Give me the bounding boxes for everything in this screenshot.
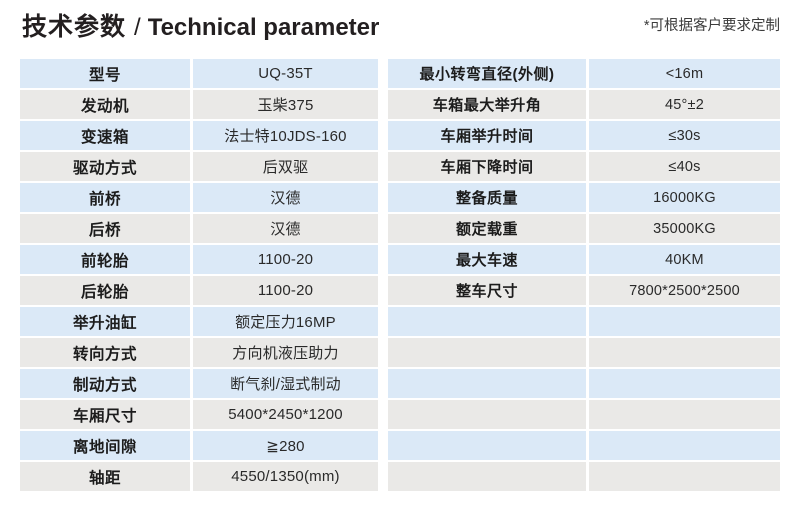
spec-value <box>589 431 780 460</box>
spec-label <box>388 400 586 429</box>
table-row <box>388 369 780 400</box>
spec-table-left: 型号UQ-35T发动机玉柴375变速箱法士特10JDS-160驱动方式后双驱前桥… <box>20 59 378 493</box>
spec-label: 最小转弯直径(外侧) <box>388 59 586 88</box>
spec-label <box>388 462 586 491</box>
table-row: 转向方式方向机液压助力 <box>20 338 378 369</box>
spec-label: 车厢举升时间 <box>388 121 586 150</box>
spec-label: 车箱最大举升角 <box>388 90 586 119</box>
spec-value: 7800*2500*2500 <box>589 276 780 305</box>
spec-label <box>388 338 586 367</box>
spec-label: 变速箱 <box>20 121 190 150</box>
spec-label: 最大车速 <box>388 245 586 274</box>
spec-label: 驱动方式 <box>20 152 190 181</box>
spec-value: 40KM <box>589 245 780 274</box>
table-row: 变速箱法士特10JDS-160 <box>20 121 378 152</box>
table-row <box>388 400 780 431</box>
table-row: 前轮胎1100-20 <box>20 245 378 276</box>
spec-label: 车厢下降时间 <box>388 152 586 181</box>
spec-value: 16000KG <box>589 183 780 212</box>
spec-value: ≤30s <box>589 121 780 150</box>
spec-label: 转向方式 <box>20 338 190 367</box>
page-title-separator: / <box>134 16 141 40</box>
spec-label: 后轮胎 <box>20 276 190 305</box>
table-row: 最大车速40KM <box>388 245 780 276</box>
table-row: 车厢举升时间≤30s <box>388 121 780 152</box>
spec-label: 额定载重 <box>388 214 586 243</box>
table-row: 整备质量16000KG <box>388 183 780 214</box>
spec-label: 车厢尺寸 <box>20 400 190 429</box>
page-header: 技术参数 / Technical parameter *可根据客户要求定制 <box>0 0 800 55</box>
page-title: 技术参数 / Technical parameter <box>22 15 379 40</box>
table-row <box>388 431 780 462</box>
spec-value: 5400*2450*1200 <box>193 400 378 429</box>
spec-label: 前桥 <box>20 183 190 212</box>
spec-value: 法士特10JDS-160 <box>193 121 378 150</box>
spec-value: ≧280 <box>193 431 378 460</box>
spec-value: 45°±2 <box>589 90 780 119</box>
spec-table-right: 最小转弯直径(外侧)<16m车箱最大举升角45°±2车厢举升时间≤30s车厢下降… <box>388 59 780 493</box>
spec-label: 轴距 <box>20 462 190 491</box>
spec-label: 后桥 <box>20 214 190 243</box>
spec-value: 1100-20 <box>193 276 378 305</box>
table-row <box>388 307 780 338</box>
table-row: 后轮胎1100-20 <box>20 276 378 307</box>
spec-value: <16m <box>589 59 780 88</box>
table-row: 轴距4550/1350(mm) <box>20 462 378 493</box>
spec-label: 型号 <box>20 59 190 88</box>
table-row: 离地间隙≧280 <box>20 431 378 462</box>
spec-value: 35000KG <box>589 214 780 243</box>
table-row: 举升油缸额定压力16MP <box>20 307 378 338</box>
table-row: 额定载重35000KG <box>388 214 780 245</box>
spec-label: 整备质量 <box>388 183 586 212</box>
customization-note: *可根据客户要求定制 <box>644 19 780 36</box>
table-row: 整车尺寸7800*2500*2500 <box>388 276 780 307</box>
table-row <box>388 338 780 369</box>
spec-value <box>589 462 780 491</box>
table-row: 前桥汉德 <box>20 183 378 214</box>
table-row: 驱动方式后双驱 <box>20 152 378 183</box>
spec-value <box>589 400 780 429</box>
spec-value: 玉柴375 <box>193 90 378 119</box>
spec-label <box>388 307 586 336</box>
spec-label <box>388 369 586 398</box>
spec-value: 4550/1350(mm) <box>193 462 378 491</box>
spec-value: 额定压力16MP <box>193 307 378 336</box>
page-title-en: Technical parameter <box>148 16 380 40</box>
spec-value: UQ-35T <box>193 59 378 88</box>
table-row: 车厢尺寸5400*2450*1200 <box>20 400 378 431</box>
spec-value: 汉德 <box>193 214 378 243</box>
spec-label: 离地间隙 <box>20 431 190 460</box>
spec-label: 举升油缸 <box>20 307 190 336</box>
spec-value <box>589 338 780 367</box>
spec-label: 整车尺寸 <box>388 276 586 305</box>
spec-value: 1100-20 <box>193 245 378 274</box>
spec-value: 断气刹/湿式制动 <box>193 369 378 398</box>
spec-label: 制动方式 <box>20 369 190 398</box>
table-row <box>388 462 780 493</box>
table-row: 车箱最大举升角45°±2 <box>388 90 780 121</box>
spec-tables-container: 型号UQ-35T发动机玉柴375变速箱法士特10JDS-160驱动方式后双驱前桥… <box>20 59 780 493</box>
table-row: 后桥汉德 <box>20 214 378 245</box>
table-row: 最小转弯直径(外侧)<16m <box>388 59 780 90</box>
spec-sheet-page: 技术参数 / Technical parameter *可根据客户要求定制 型号… <box>0 0 800 517</box>
spec-value: ≤40s <box>589 152 780 181</box>
table-row: 型号UQ-35T <box>20 59 378 90</box>
spec-value: 方向机液压助力 <box>193 338 378 367</box>
spec-value <box>589 307 780 336</box>
spec-label: 前轮胎 <box>20 245 190 274</box>
spec-label <box>388 431 586 460</box>
spec-value: 汉德 <box>193 183 378 212</box>
page-title-cn: 技术参数 <box>22 15 126 40</box>
table-row: 发动机玉柴375 <box>20 90 378 121</box>
spec-value <box>589 369 780 398</box>
table-row: 车厢下降时间≤40s <box>388 152 780 183</box>
table-row: 制动方式断气刹/湿式制动 <box>20 369 378 400</box>
spec-label: 发动机 <box>20 90 190 119</box>
spec-value: 后双驱 <box>193 152 378 181</box>
